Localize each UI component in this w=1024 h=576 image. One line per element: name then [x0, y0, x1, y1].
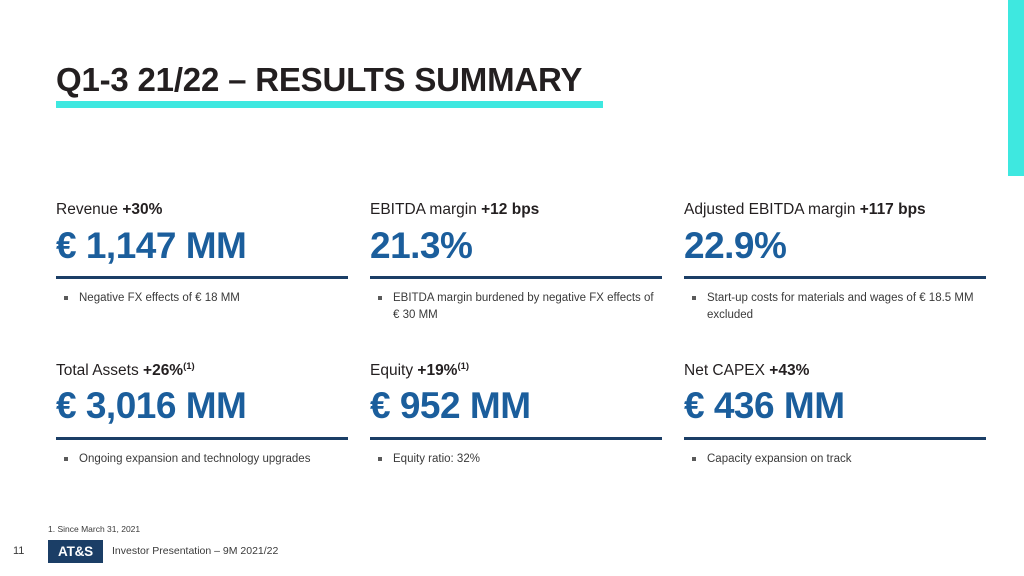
- title-block: Q1-3 21/22 – RESULTS SUMMARY: [56, 62, 856, 108]
- footnote-text: 1. Since March 31, 2021: [48, 524, 140, 534]
- kpi-bullet-list: Equity ratio: 32%: [370, 451, 662, 467]
- bullet-text: EBITDA margin burdened by negative FX ef…: [393, 292, 654, 320]
- list-item: EBITDA margin burdened by negative FX ef…: [370, 290, 662, 323]
- kpi-label-text: Revenue: [56, 201, 122, 218]
- kpi-bullet-list: Negative FX effects of € 18 MM: [56, 290, 348, 306]
- square-bullet-icon: [692, 457, 696, 461]
- kpi-delta: +19%: [417, 362, 457, 379]
- kpi-delta: +43%: [769, 362, 809, 379]
- bullet-text: Ongoing expansion and technology upgrade…: [79, 453, 310, 465]
- kpi-value: € 3,016 MM: [56, 384, 348, 428]
- list-item: Capacity expansion on track: [684, 451, 986, 467]
- kpi-bullet-list: Ongoing expansion and technology upgrade…: [56, 451, 348, 467]
- bullet-text: Negative FX effects of € 18 MM: [79, 292, 240, 304]
- kpi-label-text: Net CAPEX: [684, 362, 769, 379]
- kpi-card-equity: Equity +19%(1) € 952 MM Equity ratio: 32…: [370, 361, 662, 468]
- square-bullet-icon: [378, 457, 382, 461]
- kpi-bullet-list: EBITDA margin burdened by negative FX ef…: [370, 290, 662, 323]
- kpi-label: Equity +19%(1): [370, 361, 662, 381]
- bullet-text: Capacity expansion on track: [707, 453, 851, 465]
- kpi-card-total-assets: Total Assets +26%(1) € 3,016 MM Ongoing …: [56, 361, 348, 468]
- slide-footer: 11 AT&S Investor Presentation – 9M 2021/…: [0, 540, 1024, 566]
- footer-caption: Investor Presentation – 9M 2021/22: [112, 545, 278, 557]
- list-item: Start-up costs for materials and wages o…: [684, 290, 986, 323]
- ats-logo: AT&S: [48, 540, 103, 563]
- page-title: Q1-3 21/22 – RESULTS SUMMARY: [56, 62, 582, 98]
- kpi-card-net-capex: Net CAPEX +43% € 436 MM Capacity expansi…: [684, 361, 986, 468]
- kpi-divider: [684, 437, 986, 440]
- bullet-text: Equity ratio: 32%: [393, 453, 480, 465]
- kpi-label: Total Assets +26%(1): [56, 361, 348, 381]
- kpi-label: Net CAPEX +43%: [684, 361, 986, 381]
- kpi-divider: [370, 437, 662, 440]
- slide-canvas: Q1-3 21/22 – RESULTS SUMMARY Revenue +30…: [0, 0, 1024, 576]
- title-underline: [56, 101, 603, 108]
- kpi-value: 21.3%: [370, 224, 662, 268]
- kpi-label: Adjusted EBITDA margin +117 bps: [684, 200, 986, 220]
- bullet-text: Start-up costs for materials and wages o…: [707, 292, 974, 320]
- kpi-delta: +12 bps: [481, 201, 539, 218]
- kpi-divider: [370, 276, 662, 279]
- kpi-label-text: EBITDA margin: [370, 201, 481, 218]
- square-bullet-icon: [64, 457, 68, 461]
- square-bullet-icon: [692, 296, 696, 300]
- kpi-footnote-marker: (1): [457, 361, 469, 372]
- kpi-delta: +117 bps: [860, 201, 926, 218]
- kpi-value: € 952 MM: [370, 384, 662, 428]
- kpi-delta: +26%: [143, 362, 183, 379]
- kpi-card-ebitda-margin: EBITDA margin +12 bps 21.3% EBITDA margi…: [370, 200, 662, 323]
- square-bullet-icon: [378, 296, 382, 300]
- list-item: Ongoing expansion and technology upgrade…: [56, 451, 348, 467]
- kpi-bullet-list: Capacity expansion on track: [684, 451, 986, 467]
- list-item: Negative FX effects of € 18 MM: [56, 290, 348, 306]
- kpi-divider: [684, 276, 986, 279]
- kpi-value: € 436 MM: [684, 384, 986, 428]
- list-item: Equity ratio: 32%: [370, 451, 662, 467]
- kpi-delta: +30%: [122, 201, 162, 218]
- kpi-label: Revenue +30%: [56, 200, 348, 220]
- kpi-card-adjusted-ebitda-margin: Adjusted EBITDA margin +117 bps 22.9% St…: [684, 200, 986, 323]
- kpi-label-text: Equity: [370, 362, 417, 379]
- kpi-label-text: Adjusted EBITDA margin: [684, 201, 860, 218]
- kpi-value: € 1,147 MM: [56, 224, 348, 268]
- kpi-value: 22.9%: [684, 224, 986, 268]
- kpi-divider: [56, 276, 348, 279]
- accent-bar-cyan: [1008, 0, 1024, 176]
- kpi-footnote-marker: (1): [183, 361, 195, 372]
- kpi-grid: Revenue +30% € 1,147 MM Negative FX effe…: [56, 200, 986, 467]
- kpi-bullet-list: Start-up costs for materials and wages o…: [684, 290, 986, 323]
- kpi-label: EBITDA margin +12 bps: [370, 200, 662, 220]
- page-number: 11: [13, 545, 24, 557]
- kpi-label-text: Total Assets: [56, 362, 143, 379]
- kpi-card-revenue: Revenue +30% € 1,147 MM Negative FX effe…: [56, 200, 348, 323]
- square-bullet-icon: [64, 296, 68, 300]
- kpi-divider: [56, 437, 348, 440]
